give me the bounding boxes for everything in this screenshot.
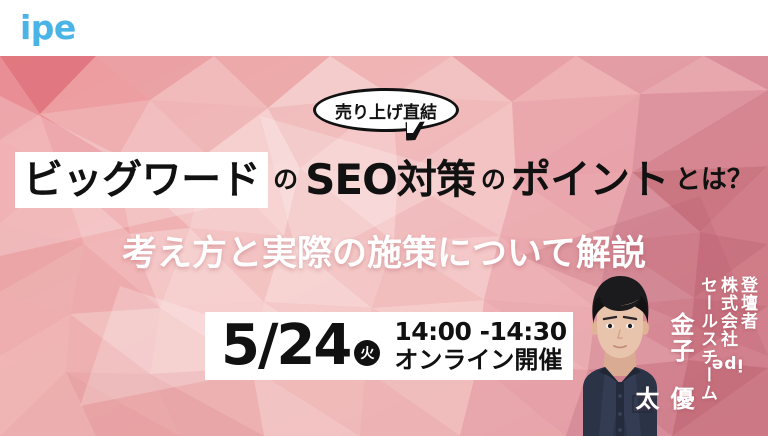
page-header: ipe <box>0 0 768 56</box>
headline-tail: とは？ <box>669 152 753 208</box>
headline-keyword: SEO <box>303 152 397 208</box>
event-date-panel: 5/24 火 14:00 -14:30 オンライン開催 <box>205 312 573 380</box>
speaker-given-name: 優太 <box>628 386 698 436</box>
ipe-logo[interactable]: ipe <box>20 11 76 45</box>
sales-badge: 売り上げ直結 <box>313 88 459 132</box>
company-prefix: 株式会社 <box>717 276 737 348</box>
badge-label: 売り上げ直結 <box>313 88 459 132</box>
headline-word-2: ポイント <box>511 152 669 208</box>
event-time: 14:00 -14:30 <box>394 317 566 346</box>
headline-word-1: 対策 <box>397 152 476 208</box>
headline: ビッグワード の SEO 対策 の ポイント とは？ <box>0 152 768 208</box>
headline-particle-2: の <box>476 152 511 208</box>
speaker-team: セールスチーム <box>695 276 720 402</box>
event-date: 5/24 <box>221 317 350 375</box>
date-group: 5/24 火 <box>205 317 380 375</box>
day-of-week-badge: 火 <box>354 340 380 366</box>
headline-particle-1: の <box>268 152 303 208</box>
subheading: 考え方と実際の施策について解説 <box>0 225 768 276</box>
time-group: 14:00 -14:30 オンライン開催 <box>394 317 566 375</box>
speaker-family-name: 金子 <box>663 312 698 364</box>
event-mode: オンライン開催 <box>394 346 566 375</box>
headline-highlight: ビッグワード <box>15 152 268 208</box>
banner-canvas: ipe 売り上げ直結 ビッグワード の SEO 対策 の ポイント とは？ 考え… <box>0 0 768 436</box>
